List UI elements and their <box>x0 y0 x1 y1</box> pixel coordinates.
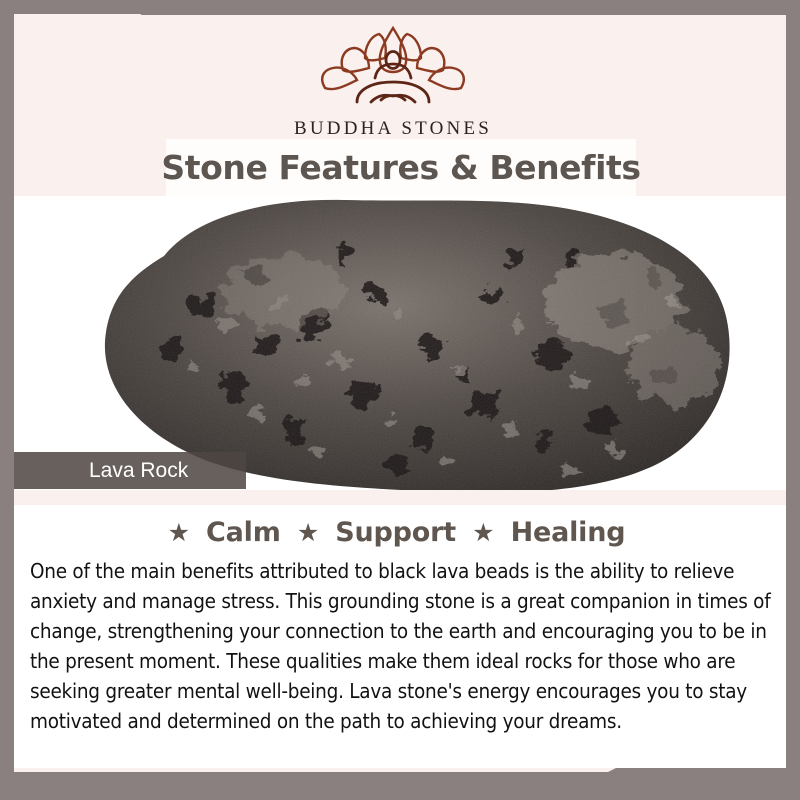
hero-image <box>14 196 786 490</box>
lava-rock-photo <box>14 196 786 490</box>
star-icon: ★ <box>472 518 494 547</box>
brand-logo: BUDDHA STONES <box>0 22 786 140</box>
content-panel: ★ Calm ★ Support ★ Healing One of the ma… <box>14 505 786 768</box>
page-title: Stone Features & Benefits <box>161 148 640 187</box>
brand-name: BUDDHA STONES <box>0 118 786 140</box>
description-paragraph: One of the main benefits attributed to b… <box>30 556 772 736</box>
star-icon: ★ <box>168 518 190 547</box>
image-caption-band: Lava Rock <box>14 452 246 489</box>
benefit-keyword-calm: Calm <box>206 517 281 548</box>
star-icon: ★ <box>297 518 319 547</box>
frame-bottom-accent <box>0 772 630 800</box>
frame-top-accent <box>140 0 800 15</box>
title-banner: Stone Features & Benefits <box>166 139 636 196</box>
benefit-keyword-support: Support <box>335 517 456 548</box>
frame-right-edge <box>786 0 800 800</box>
infographic-poster: BUDDHA STONES Stone Features & Benefits <box>0 0 800 800</box>
image-caption: Lava Rock <box>14 459 188 483</box>
lotus-meditation-icon <box>313 22 473 114</box>
benefit-keywords: ★ Calm ★ Support ★ Healing <box>14 517 786 548</box>
benefit-keyword-healing: Healing <box>511 517 626 548</box>
